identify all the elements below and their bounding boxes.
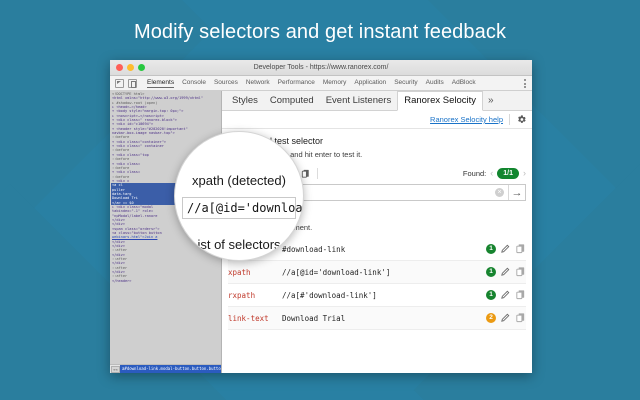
pencil-icon[interactable] (500, 312, 511, 323)
gear-icon[interactable] (516, 114, 527, 125)
chevron-right-icon[interactable]: › (523, 169, 526, 178)
devtools-tab-adblock[interactable]: AdBlock (452, 78, 476, 88)
found-group: Found: ‹ 1/1 › (463, 168, 526, 179)
selector-value-cell[interactable]: //a[@id='download-link'] (282, 261, 470, 284)
devtools-tab-sources[interactable]: Sources (214, 78, 238, 88)
breadcrumb-selected-node[interactable]: a#download-link.modal-button.button.butt… (120, 365, 221, 373)
row-actions: 1 (470, 261, 526, 284)
tab-computed[interactable]: Computed (264, 92, 320, 110)
copy-icon[interactable] (515, 312, 526, 323)
window-titlebar: Developer Tools - https://www.ranorex.co… (110, 60, 532, 76)
inspect-element-icon[interactable] (115, 79, 124, 88)
pencil-icon[interactable] (500, 243, 511, 254)
row-actions: 1 (470, 284, 526, 307)
kebab-menu-icon[interactable] (524, 79, 526, 88)
devtools-tabs: Elements Console Sources Network Perform… (147, 78, 476, 88)
devtools-tab-security[interactable]: Security (394, 78, 417, 88)
row-actions: 1 (470, 238, 526, 261)
magnifier-lens: xpath (detected) //a[@id='download- ist … (174, 131, 304, 261)
pencil-icon[interactable] (500, 289, 511, 300)
breadcrumb: «« a#download-link.modal-button.button.b… (110, 364, 221, 373)
magnified-selector-type-label: xpath (detected) (192, 173, 294, 188)
selector-type-cell: rxpath (228, 284, 282, 307)
devtools-tab-performance[interactable]: Performance (278, 78, 315, 88)
selector-value-cell[interactable]: Download Trial (282, 307, 470, 330)
table-row[interactable]: link-textDownload Trial2 (228, 307, 526, 330)
arrow-right-icon[interactable]: → (508, 185, 525, 200)
devtools-window: Developer Tools - https://www.ranorex.co… (110, 60, 532, 373)
more-tabs-icon[interactable]: » (483, 92, 499, 110)
selector-value-cell[interactable]: #download-link (282, 238, 470, 261)
match-count-badge: 1 (486, 290, 496, 300)
devtools-tab-memory[interactable]: Memory (323, 78, 346, 88)
panel-tabs: Styles Computed Event Listeners Ranorex … (222, 91, 532, 111)
copy-icon[interactable] (515, 243, 526, 254)
tab-ranorex-selocity[interactable]: Ranorex Selocity (397, 91, 483, 111)
panel-help-row: Ranorex Selocity help (222, 111, 532, 129)
found-count-badge: 1/1 (497, 168, 519, 179)
devtools-tab-elements[interactable]: Elements (147, 78, 174, 88)
devtools-tab-application[interactable]: Application (354, 78, 386, 88)
window-title: Developer Tools - https://www.ranorex.co… (110, 60, 532, 76)
selocity-help-link[interactable]: Ranorex Selocity help (430, 115, 503, 124)
magnified-selector-input[interactable]: //a[@id='download- (182, 197, 296, 219)
devtools-body: <!DOCTYPE html><html xmlns="http://www.w… (110, 91, 532, 373)
devtools-tab-audits[interactable]: Audits (426, 78, 444, 88)
devtools-tab-network[interactable]: Network (246, 78, 270, 88)
selector-value-cell[interactable]: //a[#'download-link'] (282, 284, 470, 307)
chevron-left-icon[interactable]: ‹ (490, 169, 493, 178)
copy-icon[interactable] (515, 289, 526, 300)
page-title: Modify selectors and get instant feedbac… (0, 21, 640, 44)
copy-icon[interactable] (515, 266, 526, 277)
control-divider-3 (317, 168, 318, 179)
match-count-badge: 1 (486, 267, 496, 277)
breadcrumb-overflow-icon[interactable]: «« (111, 366, 120, 373)
table-row[interactable]: xpath//a[@id='download-link']1 (228, 261, 526, 284)
pencil-icon[interactable] (500, 266, 511, 277)
tab-event-listeners[interactable]: Event Listeners (320, 92, 397, 110)
found-label: Found: (463, 169, 486, 178)
selector-type-cell: link-text (228, 307, 282, 330)
dom-tree-line[interactable]: </header> (111, 279, 221, 283)
device-toolbar-icon[interactable] (128, 79, 137, 88)
selector-type-cell: xpath (228, 261, 282, 284)
magnified-list-heading: ist of selectors (175, 237, 303, 252)
devtools-toolbar: Elements Console Sources Network Perform… (110, 76, 532, 91)
match-count-badge: 1 (486, 244, 496, 254)
devtools-tab-console[interactable]: Console (182, 78, 206, 88)
clear-icon[interactable]: × (495, 188, 504, 197)
match-count-badge: 2 (486, 313, 496, 323)
table-row[interactable]: rxpath//a[#'download-link']1 (228, 284, 526, 307)
row-actions: 2 (470, 307, 526, 330)
toolbar-divider (509, 114, 510, 125)
magnified-selector-input-value: //a[@id='download- (187, 201, 304, 215)
tab-styles[interactable]: Styles (226, 92, 264, 110)
